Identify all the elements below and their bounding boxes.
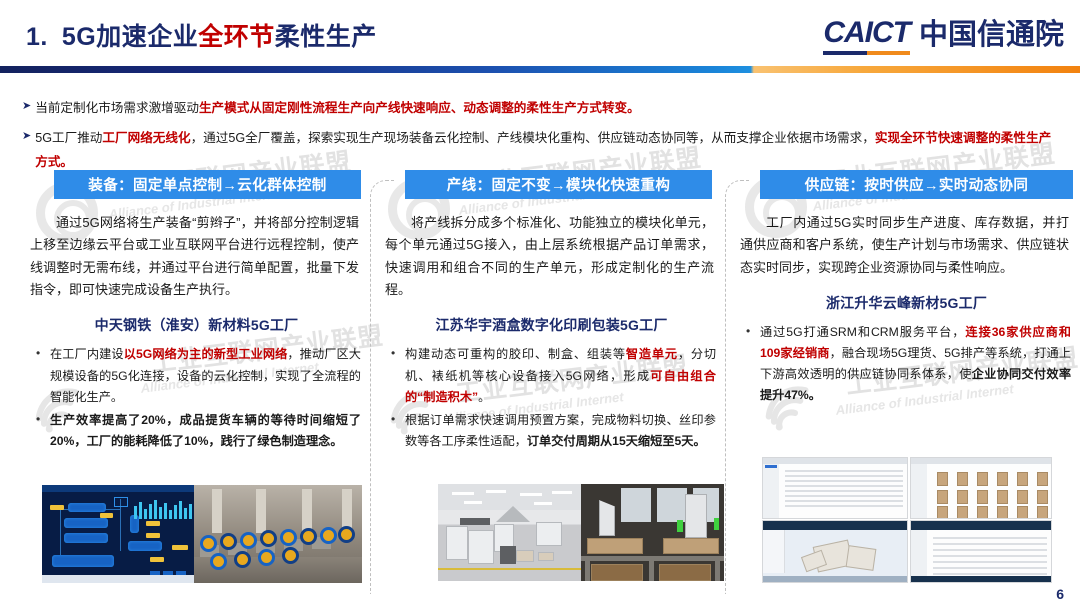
table-row xyxy=(933,537,1047,539)
app-titlebar xyxy=(763,521,907,530)
column-2-bullets: 构建动态可重构的胶印、制盒、组装等智造单元，分切机、裱纸机等核心设备接入5G网络… xyxy=(383,344,720,452)
column-1-header: 装备：固定单点控制→云化群体控制 xyxy=(54,170,361,199)
intro-bullets: ➤ 当前定制化市场需求激增驱动生产模式从固定刚性流程生产向产线快速响应、动态调整… xyxy=(22,96,1062,180)
gantry-robot-arm xyxy=(685,494,707,538)
list-item: 在工厂内建设以5G网络为主的新型工业网络，推动厂区大规模设备的5G化连接，设备的… xyxy=(34,344,361,407)
photo-printing-workshop xyxy=(438,484,581,581)
scada-tank xyxy=(64,518,108,528)
reel-spool xyxy=(260,530,277,547)
scada-node xyxy=(150,557,164,562)
logo-underline-blue xyxy=(823,51,866,55)
scada-box xyxy=(114,497,128,507)
product-thumbnail xyxy=(977,490,988,504)
app-sidebar xyxy=(911,530,927,582)
intro-2-plain-b: ，通过5G全厂覆盖，探索实现生产现场装备云化控制、产线模块化重构、供应链动态协同… xyxy=(191,131,875,145)
floor-marking xyxy=(438,568,581,570)
reel-spool xyxy=(282,547,299,564)
column-3-header: 供应链：按时供应→实时动态协同 xyxy=(760,170,1073,199)
ceiling-light xyxy=(520,493,542,496)
table-row xyxy=(933,543,1047,545)
column-1-paragraph: 通过5G网络将生产装备“剪辫子”，并将部分控制逻辑上移至边缘云平台或工业互联网平… xyxy=(28,212,365,301)
product-thumbnail xyxy=(997,490,1008,504)
photo-product-catalog xyxy=(910,457,1052,519)
gantry-conveyor-board xyxy=(591,564,643,581)
ceiling-light xyxy=(552,491,572,494)
gantry-board-stack xyxy=(587,538,643,554)
c2-b1-p0: 构建动态可重构的胶印、制盒、组装等 xyxy=(405,347,626,361)
ceiling-light xyxy=(486,490,506,493)
title-suffix: 柔性生产 xyxy=(275,23,377,51)
model-box xyxy=(846,545,877,571)
sidebar-active-item xyxy=(765,465,777,468)
workshop-machine xyxy=(468,530,494,564)
column-equipment: 装备：固定单点控制→云化群体控制 通过5G网络将生产装备“剪辫子”，并将部分控制… xyxy=(28,170,365,595)
product-thumbnail xyxy=(937,472,948,486)
intro-bullet-1: ➤ 当前定制化市场需求激增驱动生产模式从固定刚性流程生产向产线快速响应、动态调整… xyxy=(22,96,1062,121)
product-thumbnail xyxy=(1017,490,1028,504)
column-divider-1 xyxy=(370,180,394,594)
title-number: 1. xyxy=(26,23,48,51)
reel-pillar xyxy=(256,489,266,533)
gantry-wall-panel xyxy=(621,488,651,522)
table-row xyxy=(785,490,903,492)
workshop-machine xyxy=(446,526,468,560)
column-2-case-title: 江苏华宇酒盒数字化印刷包装5G工厂 xyxy=(383,315,720,335)
logo-latin-text: CAICT xyxy=(823,18,910,48)
scada-bar-chart xyxy=(134,499,192,519)
table-row xyxy=(933,573,1047,575)
workshop-pallet xyxy=(538,552,554,561)
gantry-robot-arm xyxy=(599,500,615,536)
column-1-case-title: 中天钢铁（淮安）新材料5G工厂 xyxy=(28,315,365,335)
c2-b2-p1: 订单交付周期从15天缩短至5天。 xyxy=(527,434,706,448)
gantry-conveyor-board xyxy=(659,564,711,581)
scada-tank xyxy=(64,533,108,543)
page-title: 1.5G加速企业全环节柔性生产 xyxy=(26,17,377,53)
gantry-post xyxy=(715,561,720,581)
c1-b1-p1: 以5G网络为主的新型工业网络 xyxy=(124,347,288,361)
product-thumbnail xyxy=(957,472,968,486)
intro-bullet-1-text: 当前定制化市场需求激增驱动生产模式从固定刚性流程生产向产线快速响应、动态调整的柔… xyxy=(35,96,1062,121)
table-row xyxy=(785,500,903,502)
reel-spool xyxy=(258,549,275,566)
workshop-pallet xyxy=(516,550,534,562)
app-titlebar xyxy=(911,521,1051,530)
product-thumbnail xyxy=(977,472,988,486)
reel-spool xyxy=(220,533,237,550)
arrow-bullet-icon: ➤ xyxy=(22,126,31,147)
reel-spool xyxy=(300,528,317,545)
column-supply-chain: 供应链：按时供应→实时动态协同 工厂内通过5G实时同步生产进度、库存数据，并打通… xyxy=(738,170,1075,595)
app-toolpanel xyxy=(763,530,785,573)
column-divider-2 xyxy=(725,180,749,594)
scada-node xyxy=(172,545,188,550)
reel-pillar xyxy=(212,489,222,533)
scada-node xyxy=(100,513,113,518)
column-3-photos xyxy=(762,457,1052,585)
c1-b1-p0: 在工厂内建设 xyxy=(50,347,124,361)
slide-root: 工业互联网产业联盟 Alliance of Industrial Interne… xyxy=(0,0,1080,608)
logo-mark: CAICT xyxy=(823,18,910,55)
app-titlebar xyxy=(911,458,1051,464)
title-prefix: 5G加速企业 xyxy=(62,23,198,51)
scada-node xyxy=(146,533,160,538)
photo-srm-system xyxy=(762,457,908,519)
product-thumbnail xyxy=(977,506,988,519)
intro-1-plain: 当前定制化市场需求激增驱动 xyxy=(35,101,199,115)
table-row xyxy=(785,505,903,507)
product-thumbnail xyxy=(957,490,968,504)
column-1-photos xyxy=(42,485,362,583)
photo-cable-reel-workshop xyxy=(194,485,362,583)
app-statusbar xyxy=(911,576,1051,582)
table-row xyxy=(785,475,903,477)
app-sidebar xyxy=(911,464,927,518)
reel-spool xyxy=(338,526,355,543)
logo-chinese-text: 中国信通院 xyxy=(919,21,1064,55)
product-thumbnail xyxy=(1037,490,1048,504)
scada-node xyxy=(50,505,64,510)
intro-bullet-2: ➤ 5G工厂推动工厂网络无线化，通过5G全厂覆盖，探索实现生产现场装备云化控制、… xyxy=(22,126,1062,175)
c2-b1-p1: 智造单元 xyxy=(626,347,678,361)
gantry-wall-panel xyxy=(657,488,687,522)
table-row xyxy=(933,561,1047,563)
intro-1-red: 生产模式从固定刚性流程生产向产线快速响应、动态调整的柔性生产方式转变。 xyxy=(199,101,640,115)
app-statusbar xyxy=(763,576,907,582)
c1-b2-p6: ，践行了绿色制造理念。 xyxy=(209,434,343,448)
photo-production-schedule-board xyxy=(910,520,1052,583)
table-row xyxy=(785,495,903,497)
reel-spool xyxy=(210,553,227,570)
reel-spool xyxy=(200,535,217,552)
photo-3d-design-viewer xyxy=(762,520,908,583)
product-thumbnail xyxy=(1037,472,1048,486)
workshop-machine xyxy=(536,522,562,546)
product-thumbnail xyxy=(997,506,1008,519)
list-item: 根据订单需求快速调用预置方案，完成物料切换、丝印参数等各工序柔性适配，订单交付周… xyxy=(389,410,716,452)
logo-underline-orange xyxy=(867,51,910,55)
photo-robot-gantry xyxy=(581,484,724,581)
product-thumbnail xyxy=(1017,506,1028,519)
column-2-header: 产线：固定不变→模块化快速重构 xyxy=(405,170,712,199)
reel-spool xyxy=(320,527,337,544)
c1-b2-p2: ，成品提货车辆的等待时间 xyxy=(166,413,323,427)
list-item: 构建动态可重构的胶印、制盒、组装等智造单元，分切机、裱纸机等核心设备接入5G网络… xyxy=(389,344,716,407)
table-row xyxy=(785,480,903,482)
header-divider-bar xyxy=(0,66,1080,73)
reel-spool xyxy=(280,529,297,546)
gantry-board-stack xyxy=(663,538,719,554)
column-3-bullets: 通过5G打通SRM和CRM服务平台，连接36家供应商和109家经销商，融合现场5… xyxy=(738,322,1075,406)
ceiling-light xyxy=(452,492,474,495)
reel-spool xyxy=(240,532,257,549)
intro-2-red-a: 工厂网络无线化 xyxy=(102,131,190,145)
title-highlight: 全环节 xyxy=(198,23,275,51)
table-row xyxy=(933,549,1047,551)
page-number: 6 xyxy=(1056,586,1064,602)
list-item: 生产效率提高了20%，成品提货车辆的等待时间缩短了20%，工厂的能耗降低了10%… xyxy=(34,410,361,452)
workshop-unit xyxy=(460,518,490,525)
table-row xyxy=(933,555,1047,557)
product-thumbnail xyxy=(1017,472,1028,486)
c3-b1-p0: 通过5G打通SRM和CRM服务平台， xyxy=(760,325,965,339)
column-2-paragraph: 将产线拆分成多个标准化、功能独立的模块化单元，每个单元通过5G接入，由上层系统根… xyxy=(383,212,720,301)
photo-scada-dashboard xyxy=(42,485,194,583)
table-row xyxy=(933,567,1047,569)
caict-logo: CAICT 中国信通院 xyxy=(823,18,1064,55)
scada-tank xyxy=(68,503,106,512)
column-2-photos xyxy=(438,484,724,581)
scada-link xyxy=(60,509,61,555)
scada-taskbar xyxy=(42,575,194,583)
list-item: 通过5G打通SRM和CRM服务平台，连接36家供应商和109家经销商，融合现场5… xyxy=(744,322,1071,406)
scada-node xyxy=(146,521,160,526)
product-thumbnail xyxy=(957,506,968,519)
logo-underline xyxy=(823,51,910,55)
scada-tank xyxy=(52,555,114,567)
product-thumbnail xyxy=(1037,506,1048,519)
product-thumbnail xyxy=(997,472,1008,486)
ceiling-light xyxy=(464,501,482,504)
arrow-bullet-icon: ➤ xyxy=(22,96,31,117)
content-columns: 装备：固定单点控制→云化群体控制 通过5G网络将生产装备“剪辫子”，并将部分控制… xyxy=(0,170,1080,595)
workshop-unit xyxy=(500,546,516,564)
gantry-indicator xyxy=(714,518,719,530)
workshop-ceiling xyxy=(438,484,581,510)
intro-2-plain-a: 5G工厂推动 xyxy=(35,131,102,145)
table-row xyxy=(785,485,903,487)
app-sidebar xyxy=(763,464,779,518)
gantry-post xyxy=(585,561,590,581)
c1-b2-p5: 降低了10% xyxy=(148,434,209,448)
column-3-paragraph: 工厂内通过5G实时同步生产进度、库存数据，并打通供应商和客户系统，使生产计划与市… xyxy=(738,212,1075,279)
gantry-indicator xyxy=(677,520,683,532)
scada-tank xyxy=(128,541,162,551)
column-3-case-title: 浙江升华云峰新材5G工厂 xyxy=(738,293,1075,313)
gantry-post xyxy=(649,561,654,581)
app-titlebar xyxy=(763,458,907,464)
product-thumbnail xyxy=(937,490,948,504)
reel-spool xyxy=(234,551,251,568)
intro-bullet-2-text: 5G工厂推动工厂网络无线化，通过5G全厂覆盖，探索实现生产现场装备云化控制、产线… xyxy=(35,126,1062,175)
c2-b1-p4: 。 xyxy=(478,390,490,404)
c1-b2-p1: 提高了20% xyxy=(102,413,165,427)
c1-b2-p0: 生产效率 xyxy=(50,413,102,427)
ceiling-light xyxy=(534,502,552,505)
scada-titlebar xyxy=(42,485,194,492)
column-production-line: 产线：固定不变→模块化快速重构 将产线拆分成多个标准化、功能独立的模块化单元，每… xyxy=(383,170,720,595)
product-thumbnail xyxy=(937,506,948,519)
table-row xyxy=(785,470,903,472)
column-1-bullets: 在工厂内建设以5G网络为主的新型工业网络，推动厂区大规模设备的5G化连接，设备的… xyxy=(28,344,365,452)
reel-pillar xyxy=(302,489,312,533)
c1-b2-p4: ，工厂的能耗 xyxy=(74,434,147,448)
